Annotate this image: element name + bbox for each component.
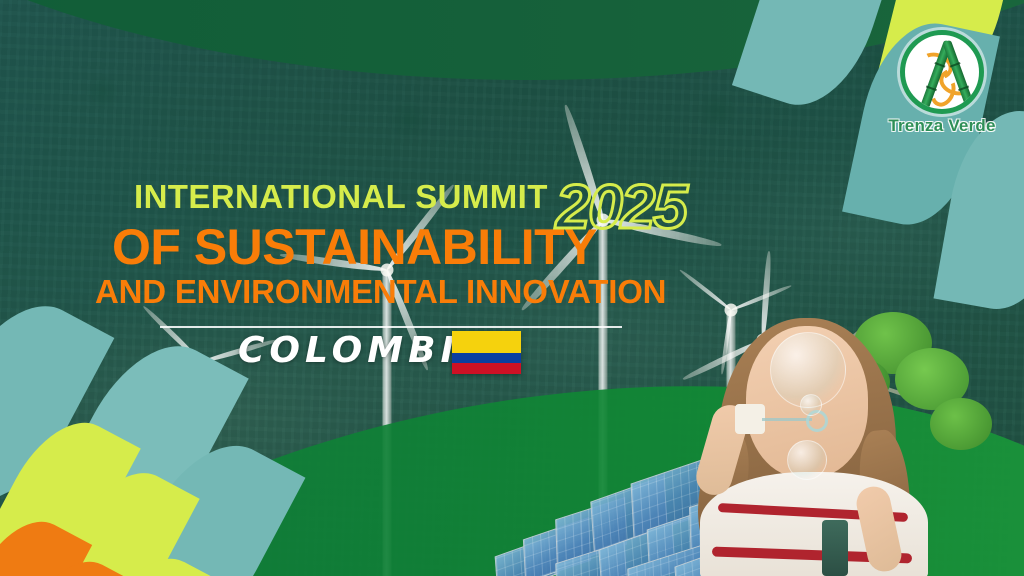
brand-name: Trenza Verde [878, 116, 1006, 136]
turbine-hub [724, 304, 737, 317]
crossed-bamboo-circle-emblem-icon [900, 30, 984, 114]
colombia-flag-icon [452, 331, 521, 374]
flag-band-yellow [452, 331, 521, 353]
headline-line-eyebrow: INTERNATIONAL SUMMIT2025 [0, 172, 700, 220]
headline-subtitle: AND ENVIRONMENTAL INNOVATION [0, 274, 700, 310]
headline-divider-line [160, 326, 622, 328]
brand-logo[interactable]: Trenza Verde [878, 30, 1006, 136]
year-text: 2025 [556, 172, 686, 243]
flag-band-red [452, 363, 521, 374]
headline-block: INTERNATIONAL SUMMIT2025 OF SUSTAINABILI… [0, 172, 700, 310]
flag-band-blue [452, 353, 521, 364]
summit-eyebrow-text: INTERNATIONAL SUMMIT [134, 178, 548, 216]
event-poster: Trenza Verde INTERNATIONAL SUMMIT2025 OF… [0, 0, 1024, 576]
